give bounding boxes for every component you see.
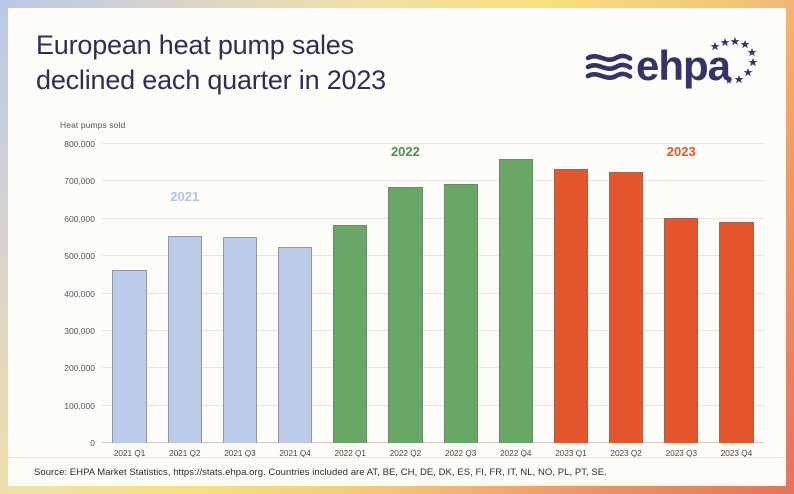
bar-slot: 2022 Q2 [378,144,433,443]
bar[interactable] [719,222,753,443]
year-annotation-2022: 2022 [391,144,420,159]
bar-slot: 2022 Q4 [488,144,543,443]
ehpa-logo: ehpa [582,30,760,94]
y-axis-tick-label: 100,000 [64,401,95,411]
y-axis-tick-label: 400,000 [64,289,95,299]
bar[interactable] [499,159,533,443]
bar[interactable] [609,172,643,443]
bar-slot: 2022 Q3 [433,144,488,443]
bar-slot: 2021 Q1 [102,144,157,443]
bar[interactable] [444,184,478,443]
y-axis-tick-label: 0 [90,438,95,448]
bar[interactable] [333,225,367,443]
bar-slot: 2023 Q2 [599,144,654,443]
year-annotation-2023: 2023 [667,144,696,159]
bar-slot: 2023 Q4 [709,144,764,443]
plot-area: 800,000700,000600,000500,000400,000300,0… [102,144,764,443]
bar[interactable] [223,237,257,443]
bar-slot: 2021 Q3 [212,144,267,443]
y-axis-tick-label: 800,000 [64,139,95,149]
year-annotation-2021: 2021 [170,189,199,204]
title-line-2: declined each quarter in 2023 [36,63,556,98]
y-axis-tick-label: 700,000 [64,176,95,186]
footer: Source: EHPA Market Statistics, https://… [8,457,786,486]
title-line-1: European heat pump sales [36,28,556,63]
bar[interactable] [112,270,146,443]
y-axis-tick-label: 500,000 [64,251,95,261]
y-axis-title: Heat pumps sold [60,120,125,130]
source-note: Source: EHPA Market Statistics, https://… [8,467,607,478]
poster-frame: European heat pump sales declined each q… [0,0,794,494]
header: European heat pump sales declined each q… [8,8,786,108]
bar[interactable] [168,236,202,443]
y-axis-tick-label: 200,000 [64,363,95,373]
chart-card: European heat pump sales declined each q… [8,8,786,486]
bar-slot: 2023 Q3 [654,144,709,443]
y-axis-tick-label: 300,000 [64,326,95,336]
bar[interactable] [388,187,422,443]
bar-slot: 2023 Q1 [543,144,598,443]
chart-area: Heat pumps sold 800,000700,000600,000500… [8,108,786,458]
bar[interactable] [664,218,698,443]
bar-slot: 2021 Q4 [268,144,323,443]
logo-waves-icon [588,56,630,78]
bar-slot: 2022 Q1 [323,144,378,443]
y-axis-tick-label: 600,000 [64,214,95,224]
page-title: European heat pump sales declined each q… [36,28,556,97]
bar-series: 2021 Q12021 Q22021 Q32021 Q42022 Q12022 … [102,144,764,443]
bar[interactable] [554,169,588,443]
bar[interactable] [278,247,312,443]
